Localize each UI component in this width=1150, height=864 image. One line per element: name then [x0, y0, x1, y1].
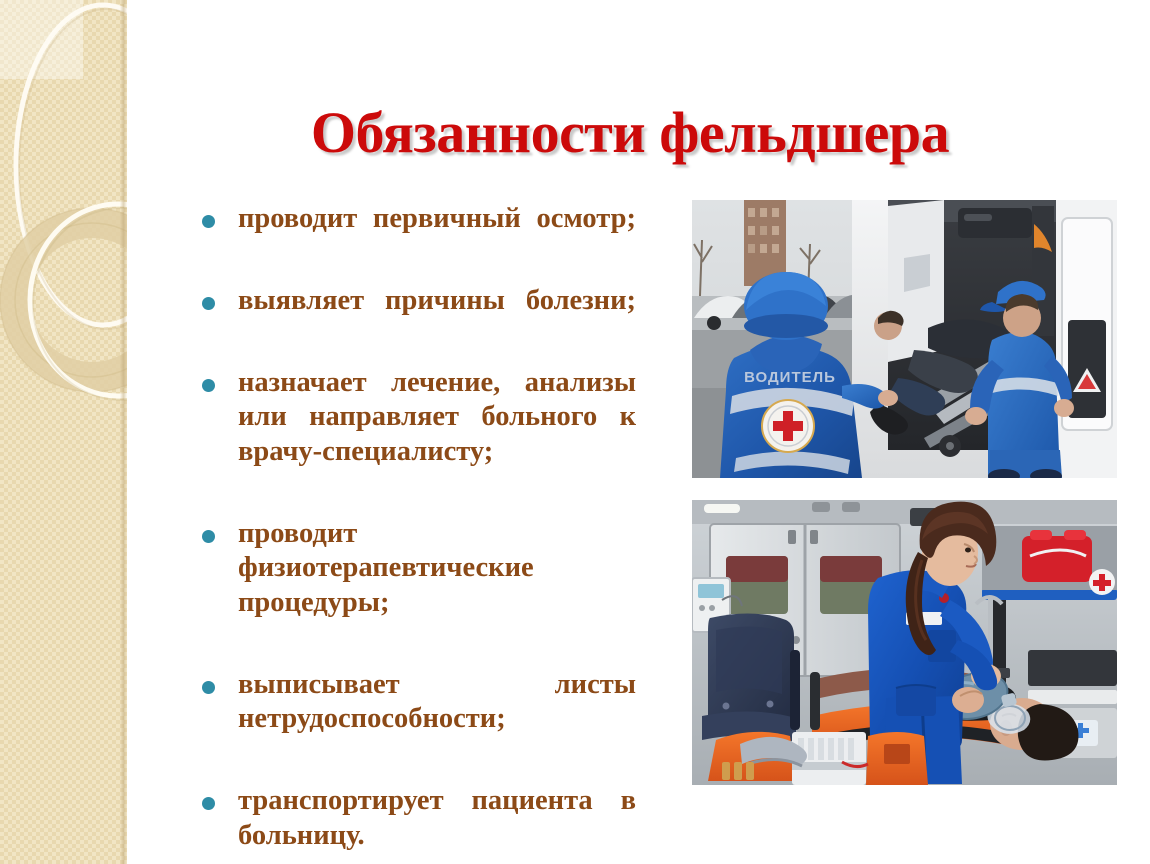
presentation-slide: Обязанности фельдшера проводит первичный… [0, 0, 1150, 864]
list-item-label: назначает лечение, анализы или направляе… [238, 366, 636, 504]
sidebar-right-edge [120, 0, 127, 864]
ambulance-stretcher-loading-photo: ВОДИТЕЛЬ [692, 200, 1117, 478]
list-item-label: проводит первичный осмотр; [238, 202, 636, 271]
bullet-dot-icon [202, 297, 215, 310]
list-item: выписывает листы нетрудоспособности; [196, 668, 636, 771]
list-item: назначает лечение, анализы или направляе… [196, 366, 636, 504]
sidebar-rings-decoration [0, 0, 127, 864]
list-item-label: выявляет причины болезни; [238, 284, 636, 353]
ambulance-stretcher-illustration: ВОДИТЕЛЬ [692, 200, 1117, 478]
page-title: Обязанности фельдшера [150, 103, 1110, 164]
svg-text:ВОДИТЕЛЬ: ВОДИТЕЛЬ [744, 369, 836, 386]
list-item: транспортирует пациента в больницу. [196, 784, 636, 864]
paramedic-bag-valve-mask-photo [692, 500, 1117, 785]
duties-bullet-list: проводит первичный осмотр; выявляет прич… [196, 202, 636, 864]
paramedic-resuscitation-illustration [692, 500, 1117, 785]
list-item-label: выписывает листы нетрудоспособности; [238, 668, 636, 771]
list-item: проводит физиотерапевтические процедуры; [196, 517, 636, 655]
bullet-dot-icon [202, 797, 215, 810]
bullet-dot-icon [202, 530, 215, 543]
bullet-dot-icon [202, 215, 215, 228]
decorative-sidebar [0, 0, 127, 864]
list-item-label: проводит физиотерапевтические процедуры; [238, 517, 636, 655]
bullet-dot-icon [202, 379, 215, 392]
bullet-dot-icon [202, 681, 215, 694]
list-item: выявляет причины болезни; [196, 284, 636, 353]
list-item-label: транспортирует пациента в больницу. [238, 784, 636, 864]
list-item: проводит первичный осмотр; [196, 202, 636, 271]
